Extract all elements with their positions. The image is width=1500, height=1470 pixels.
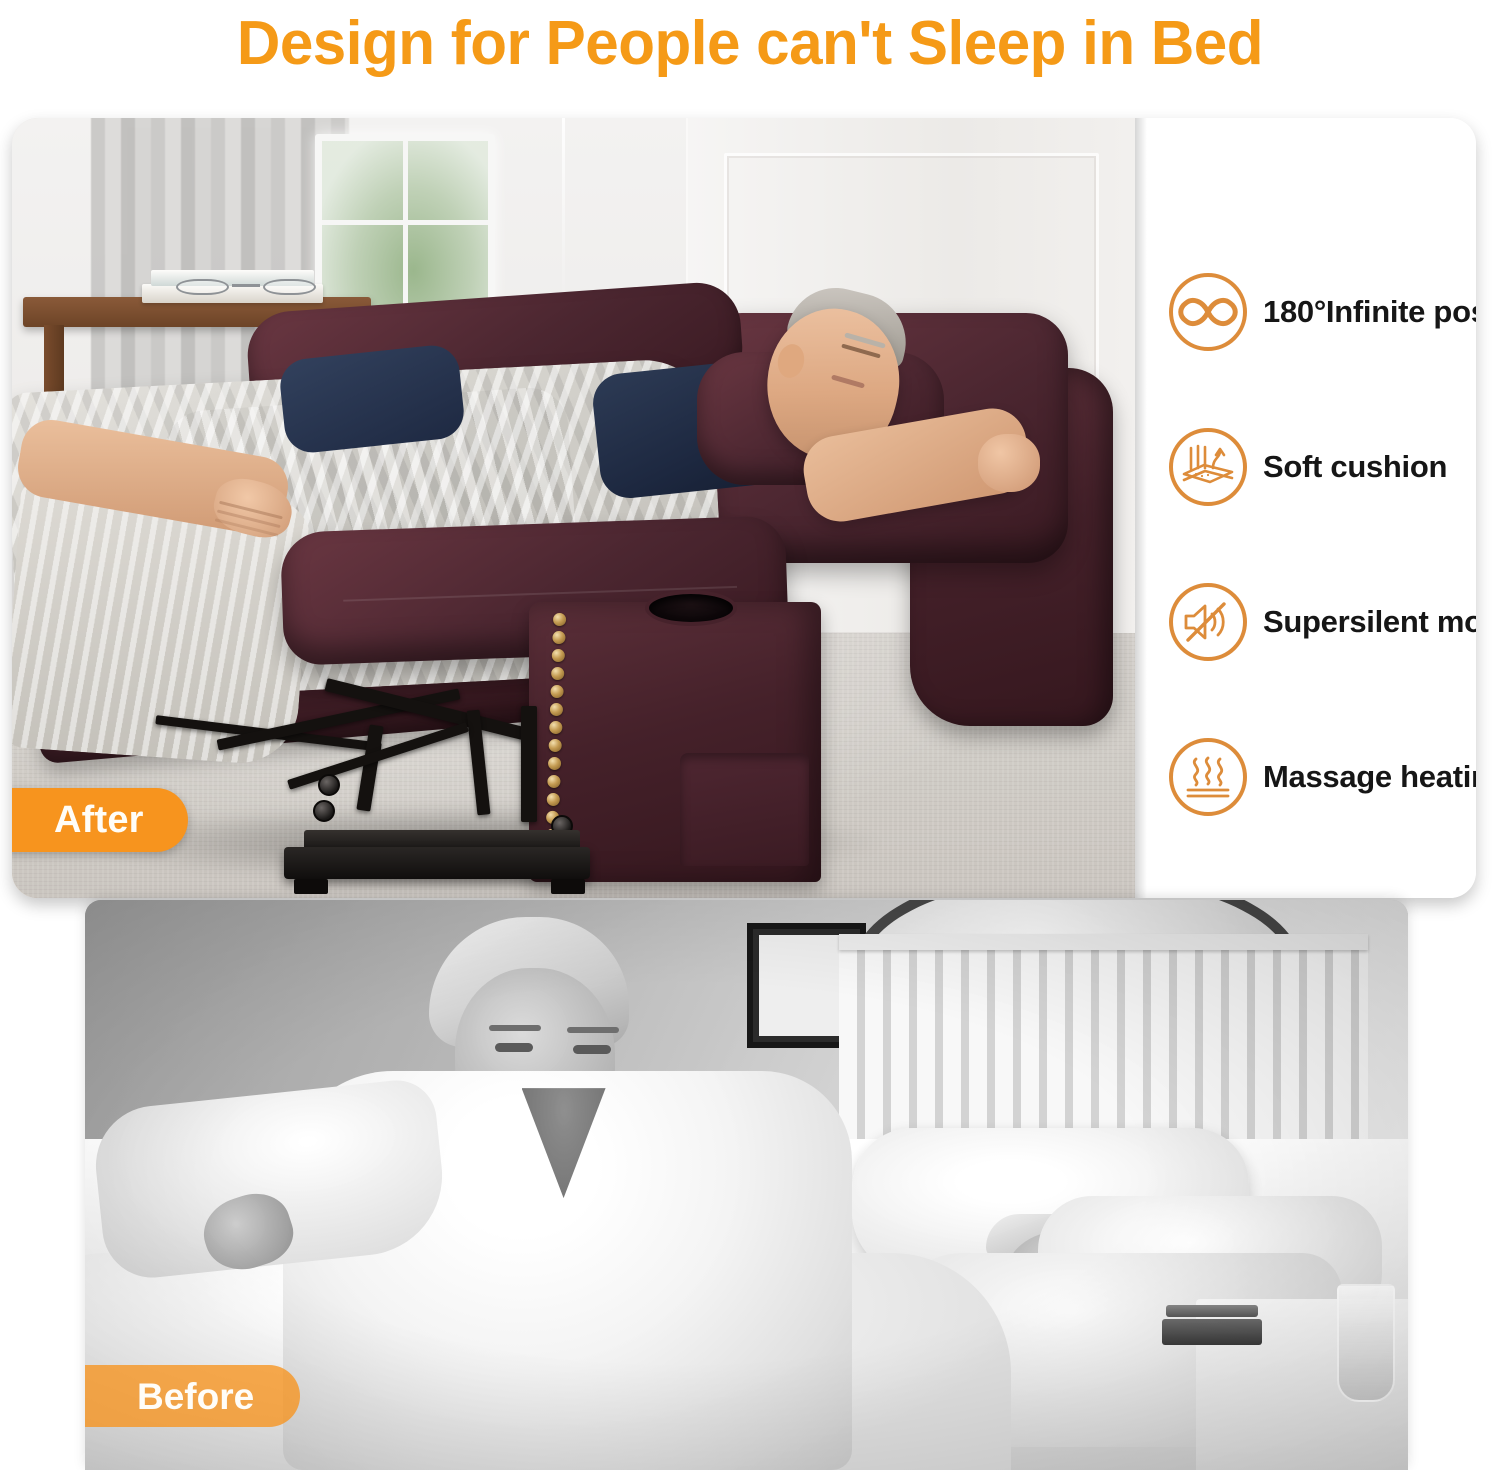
after-scene-image: After (12, 118, 1135, 898)
infinity-icon (1169, 273, 1247, 351)
after-card: After 180°Infinite position (12, 118, 1476, 898)
soft-cushion-icon (1169, 428, 1247, 506)
nailhead (552, 631, 565, 644)
before-badge: Before (85, 1365, 300, 1427)
lift-mechanism (136, 695, 630, 882)
feature-label: Massage heating (1263, 761, 1476, 792)
mechanism-bar (356, 725, 383, 812)
feature-list: 180°Infinite position Soft cushion (1135, 118, 1476, 898)
after-badge-label: After (54, 801, 144, 839)
nailhead (553, 613, 566, 626)
feature-item-infinite-position[interactable]: 180°Infinite position (1169, 234, 1476, 389)
after-badge: After (12, 788, 188, 852)
feature-item-soft-cushion[interactable]: Soft cushion (1169, 389, 1476, 544)
mute-speaker-icon (1169, 583, 1247, 661)
mechanism-foot (551, 879, 586, 894)
person-hand (978, 434, 1040, 492)
nailhead (551, 667, 564, 680)
feature-label: 180°Infinite position (1263, 296, 1476, 327)
lift-recliner (12, 118, 1135, 898)
mechanism-caster (318, 774, 340, 796)
cup-holder-icon (645, 590, 737, 626)
mechanism-bar (521, 706, 537, 822)
person-torso (277, 343, 465, 455)
mechanism-base (284, 847, 590, 879)
page-title: Design for People can't Sleep in Bed (237, 13, 1263, 75)
mechanism-caster (313, 800, 335, 822)
before-badge-label: Before (137, 1378, 254, 1415)
heat-waves-icon (1169, 738, 1247, 816)
page-header: Design for People can't Sleep in Bed (0, 0, 1500, 88)
feature-label: Supersilent motor (1263, 606, 1476, 637)
feature-item-supersilent-motor[interactable]: Supersilent motor (1169, 544, 1476, 699)
feature-label: Soft cushion (1263, 451, 1447, 482)
mechanism-foot (294, 879, 329, 894)
nailhead (552, 649, 565, 662)
recliner-side-pocket (680, 753, 808, 865)
feature-item-massage-heating[interactable]: Massage heating (1169, 699, 1476, 854)
